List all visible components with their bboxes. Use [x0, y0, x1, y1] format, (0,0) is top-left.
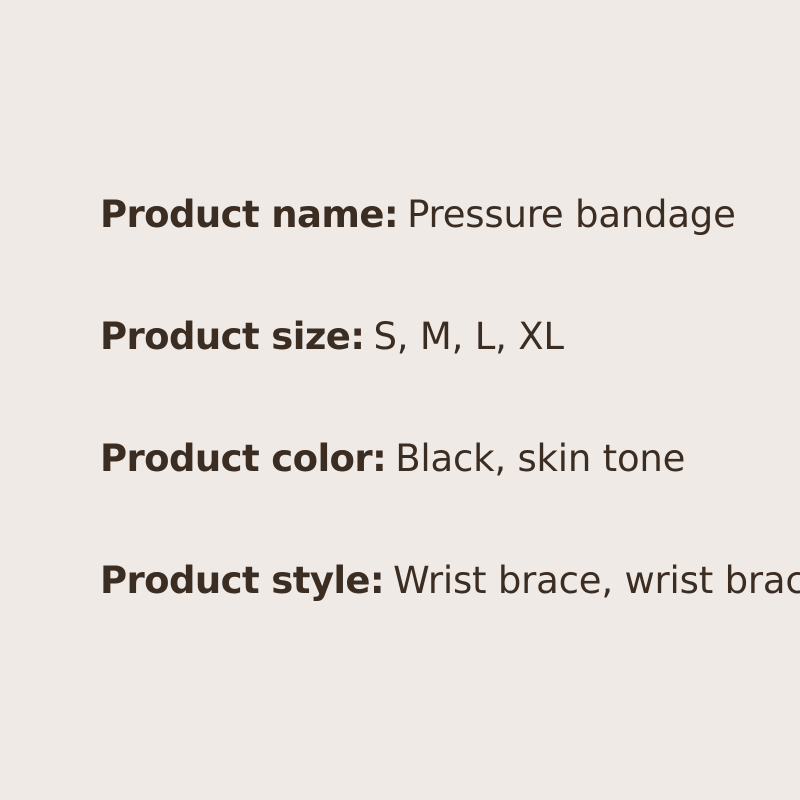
product-spec-sheet: Product name:Pressure bandage Product si…: [0, 0, 800, 800]
spec-row-product-size: Product size:S, M, L, XL: [100, 315, 800, 437]
spec-label-product-name: Product name:: [100, 193, 398, 236]
spec-value-product-color: Black, skin tone: [395, 437, 685, 480]
spec-value-product-style: Wrist brace, wrist brace: [393, 559, 800, 602]
spec-label-product-size: Product size:: [100, 315, 364, 358]
spec-value-product-name: Pressure bandage: [407, 193, 736, 236]
spec-row-product-style: Product style:Wrist brace, wrist brace: [100, 559, 800, 681]
spec-list: Product name:Pressure bandage Product si…: [100, 193, 800, 681]
spec-label-product-style: Product style:: [100, 559, 384, 602]
spec-label-product-color: Product color:: [100, 437, 386, 480]
spec-row-product-name: Product name:Pressure bandage: [100, 193, 800, 315]
spec-row-product-color: Product color:Black, skin tone: [100, 437, 800, 559]
spec-value-product-size: S, M, L, XL: [373, 315, 563, 358]
